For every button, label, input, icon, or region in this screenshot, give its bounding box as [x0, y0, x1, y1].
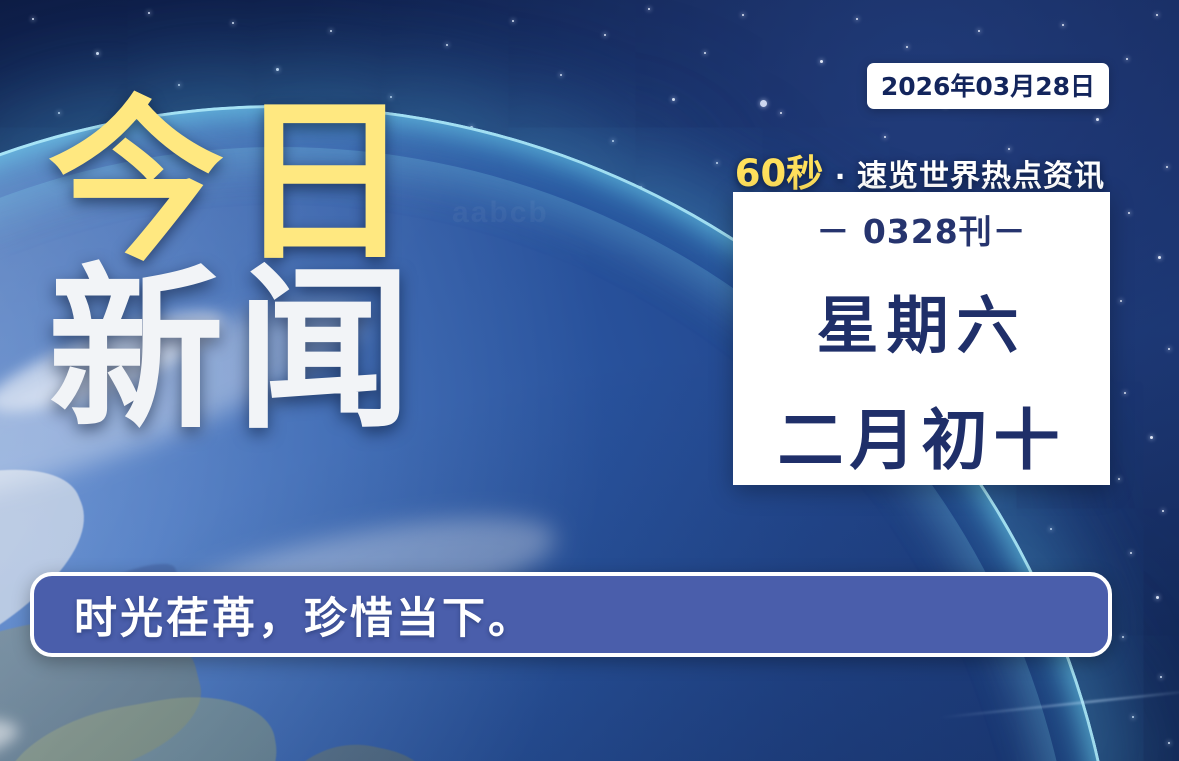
title-line-news: 新闻 [48, 264, 424, 438]
tagline: 60秒 · 速览世界热点资讯 [735, 143, 1105, 197]
date-info-card: － 0328刊－ 星期六 二月初十 [733, 192, 1110, 485]
title-line-today: 今日 [48, 96, 424, 270]
tagline-text: 速览世界热点资讯 [857, 159, 1105, 194]
news-poster: aabcb 今日 新闻 2026年03月28日 60秒 · 速览世界热点资讯 －… [0, 0, 1179, 761]
quote-banner: 时光荏苒，珍惜当下。 [30, 572, 1112, 657]
tagline-separator: · [829, 160, 852, 193]
weekday: 星期六 [816, 275, 1026, 365]
quote-text: 时光荏苒，珍惜当下。 [34, 584, 534, 646]
poster-title: 今日 新闻 [48, 96, 424, 438]
watermark: aabcb [452, 196, 549, 230]
date-badge: 2026年03月28日 [867, 63, 1109, 109]
lunar-date: 二月初十 [778, 387, 1066, 483]
issue-number: － 0328刊－ [816, 205, 1026, 253]
tagline-seconds: 60秒 [735, 152, 824, 195]
